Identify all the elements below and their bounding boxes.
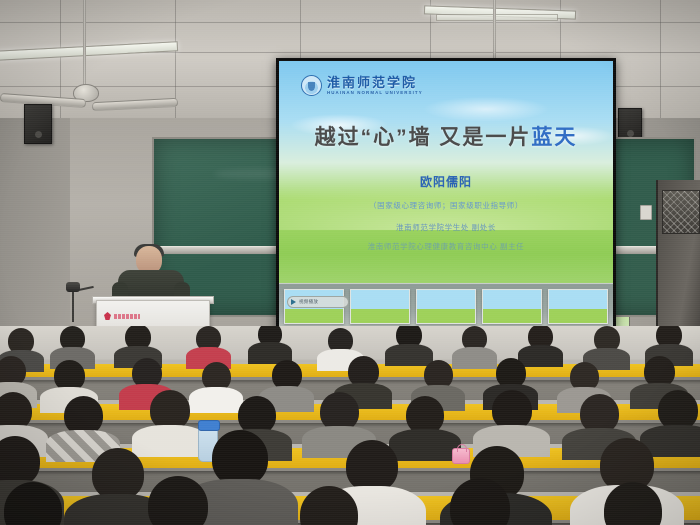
university-logo: 淮南师范学院 HUAINAN NORMAL UNIVERSITY [301,75,423,96]
slide-credentials: （国家级心理咨询师；国家级职业指导师） [279,200,613,211]
slide-title: 越过“心”墙 又是一片蓝天 [279,121,613,151]
slide-thumbnail[interactable] [416,289,476,324]
bottle-cap [198,420,220,431]
microphone-icon [66,282,80,292]
slide-affiliation-2: 淮南师范学院心理健康教育咨询中心 副主任 [279,241,613,252]
video-play-tag[interactable]: 视频播放 [287,296,349,308]
circle-emblem-icon [301,75,322,96]
video-play-label: 视频播放 [299,299,318,305]
slide-thumbnail[interactable] [482,289,542,324]
slide-title-highlight: 蓝天 [531,126,577,149]
door-lattice-panel [662,190,700,234]
ceiling-fan [32,0,152,120]
slide-thumbnail[interactable] [350,289,410,324]
audience-area [0,326,700,525]
lectern-logo [104,312,140,320]
university-name-en: HUAINAN NORMAL UNIVERSITY [327,91,423,95]
slide-filmstrip: 视频播放 [279,283,613,329]
pink-bag-charm [452,448,470,464]
microphone-stand [72,288,74,322]
play-icon [291,299,296,305]
presentation-slide: 淮南师范学院 HUAINAN NORMAL UNIVERSITY 越过“心”墙 … [279,61,613,329]
slide-affiliation-1: 淮南师范学院学生处 副处长 [279,222,613,233]
lecture-hall-photo: 淮南师范学院 HUAINAN NORMAL UNIVERSITY 越过“心”墙 … [0,0,700,525]
wall-speaker [24,104,52,144]
university-name-cn: 淮南师范学院 [327,76,423,89]
slide-title-main: 越过“心”墙 又是一片 [315,126,532,149]
slide-thumbnail[interactable] [548,289,608,324]
slide-speaker-name: 欧阳儒阳 [279,173,613,190]
lectern-emblem-icon [104,312,111,320]
projection-screen: 淮南师范学院 HUAINAN NORMAL UNIVERSITY 越过“心”墙 … [276,58,616,332]
light-switch[interactable] [640,205,652,220]
lectern-logo-text [114,314,140,319]
